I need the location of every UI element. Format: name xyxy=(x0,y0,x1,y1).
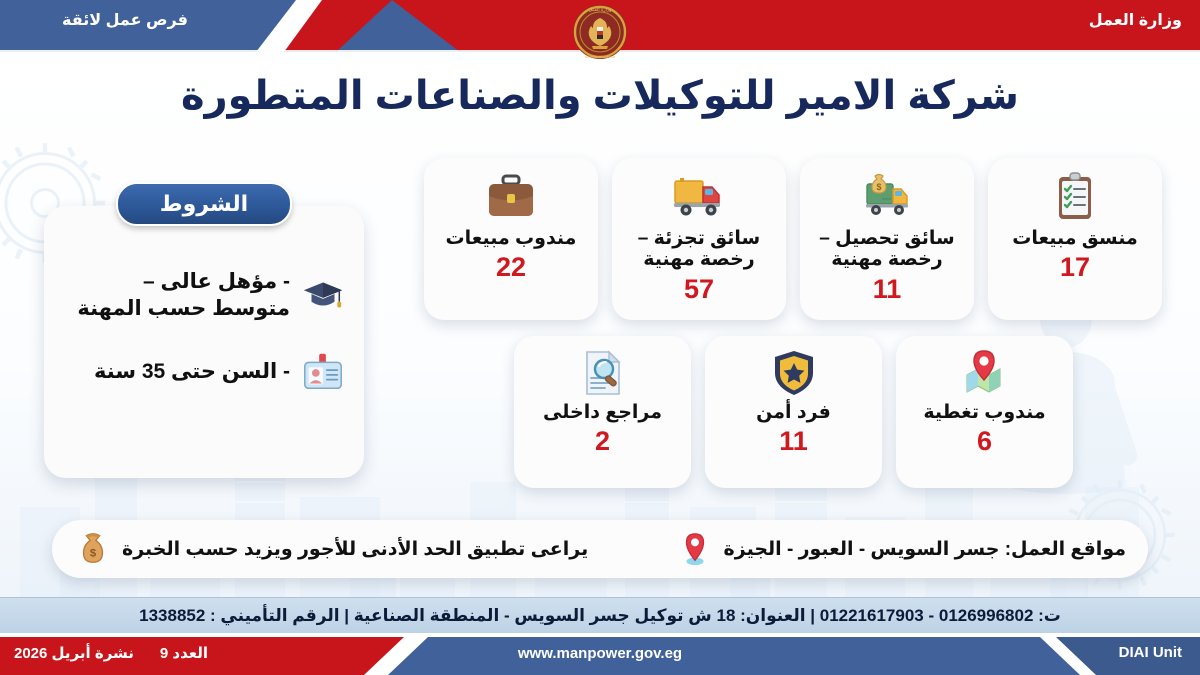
job-card-label: فرد أمن xyxy=(756,402,831,423)
job-card-retail-driver: سائق تجزئة – رخصة مهنية 57 xyxy=(612,158,786,320)
job-cards-row-2: مراجع داخلى 2 فرد أمن 11 xyxy=(514,336,1074,488)
conditions-card: - مؤهل عالى – متوسط حسب المهنة xyxy=(44,206,364,478)
job-card-count: 2 xyxy=(595,428,610,455)
header-left-badge: فرص عمل لائقة xyxy=(0,10,250,30)
job-card-coverage-representative: مندوب تغطية 6 xyxy=(896,336,1073,488)
job-card-count: 11 xyxy=(873,276,902,303)
svg-text:$: $ xyxy=(90,548,97,560)
job-card-label: سائق تجزئة – رخصة مهنية xyxy=(620,228,778,271)
footer-unit-label: DIAI Unit xyxy=(1119,644,1182,661)
condition-item-label: - مؤهل عالى – متوسط حسب المهنة xyxy=(62,268,290,323)
notes-bar: مواقع العمل: جسر السويس - العبور - الجيز… xyxy=(52,520,1148,578)
note-minimum-wage: $ يراعى تطبيق الحد الأدنى للأجور ويزيد ح… xyxy=(74,530,588,568)
job-card-internal-auditor: مراجع داخلى 2 xyxy=(514,336,691,488)
job-card-label: سائق تحصيل – رخصة مهنية xyxy=(808,228,966,271)
job-card-collection-driver: $ سائق تحصيل – رخصة مهنية 11 xyxy=(800,158,974,320)
job-cards-row-1: مندوب مبيعات 22 سائق تجزئة – رخصة مهنية … xyxy=(424,158,1164,320)
note-label: يراعى تطبيق الحد الأدنى للأجور ويزيد حسب… xyxy=(122,538,588,561)
id-card-icon xyxy=(300,349,346,395)
job-card-label: مراجع داخلى xyxy=(543,402,662,423)
conditions-panel: الشروط - مؤهل عالى – متوسط حسب المهنة xyxy=(44,182,364,478)
job-card-count: 22 xyxy=(496,254,526,281)
ministry-of-labour-emblem: وزارة العمل Ministry of Labour xyxy=(570,1,630,63)
map-pin-icon xyxy=(959,348,1011,398)
contact-strip: ت: 0126996802 - 01221617903 | العنوان: 1… xyxy=(0,597,1200,635)
job-card-count: 57 xyxy=(684,276,714,303)
footer-website-link[interactable]: www.manpower.gov.eg xyxy=(0,645,1200,662)
briefcase-icon xyxy=(483,170,539,224)
condition-item-qualification: - مؤهل عالى – متوسط حسب المهنة xyxy=(62,268,346,323)
job-card-sales-coordinator: منسق مبيعات 17 xyxy=(988,158,1162,320)
top-header-bar: وزارة العمل Ministry of Labour فرص عمل ل… xyxy=(0,0,1200,60)
job-card-label: مندوب مبيعات xyxy=(446,228,577,249)
graduation-cap-icon xyxy=(300,272,346,318)
infographic-poster: وزارة العمل Ministry of Labour فرص عمل ل… xyxy=(0,0,1200,675)
condition-item-label: - السن حتى 35 سنة xyxy=(62,358,290,385)
job-card-label: منسق مبيعات xyxy=(1012,228,1138,249)
note-work-locations: مواقع العمل: جسر السويس - العبور - الجيز… xyxy=(676,530,1126,568)
svg-text:Ministry of Labour: Ministry of Labour xyxy=(585,55,616,59)
money-bag-icon: $ xyxy=(74,530,112,568)
clipboard-checklist-icon xyxy=(1047,170,1103,224)
conditions-badge: الشروط xyxy=(116,182,292,226)
map-pin-icon xyxy=(676,530,714,568)
job-card-count: 11 xyxy=(779,428,808,455)
job-card-security-guard: فرد أمن 11 xyxy=(705,336,882,488)
money-truck-icon: $ xyxy=(859,170,915,224)
job-card-count: 6 xyxy=(977,428,992,455)
page-title: شركة الامير للتوكيلات والصناعات المتطورة xyxy=(0,74,1200,119)
condition-item-age: - السن حتى 35 سنة xyxy=(62,349,346,395)
job-card-sales-representative: مندوب مبيعات 22 xyxy=(424,158,598,320)
job-card-count: 17 xyxy=(1060,254,1090,281)
svg-text:$: $ xyxy=(876,182,881,192)
footer-bar: نشرة أبريل 2026 العدد 9 www.manpower.gov… xyxy=(0,633,1200,675)
delivery-truck-icon xyxy=(671,170,727,224)
security-shield-icon xyxy=(768,348,820,398)
note-label: مواقع العمل: جسر السويس - العبور - الجيز… xyxy=(724,538,1126,561)
header-ministry-label: وزارة العمل xyxy=(1089,10,1182,30)
document-magnifier-icon xyxy=(577,348,629,398)
job-card-label: مندوب تغطية xyxy=(923,402,1045,423)
